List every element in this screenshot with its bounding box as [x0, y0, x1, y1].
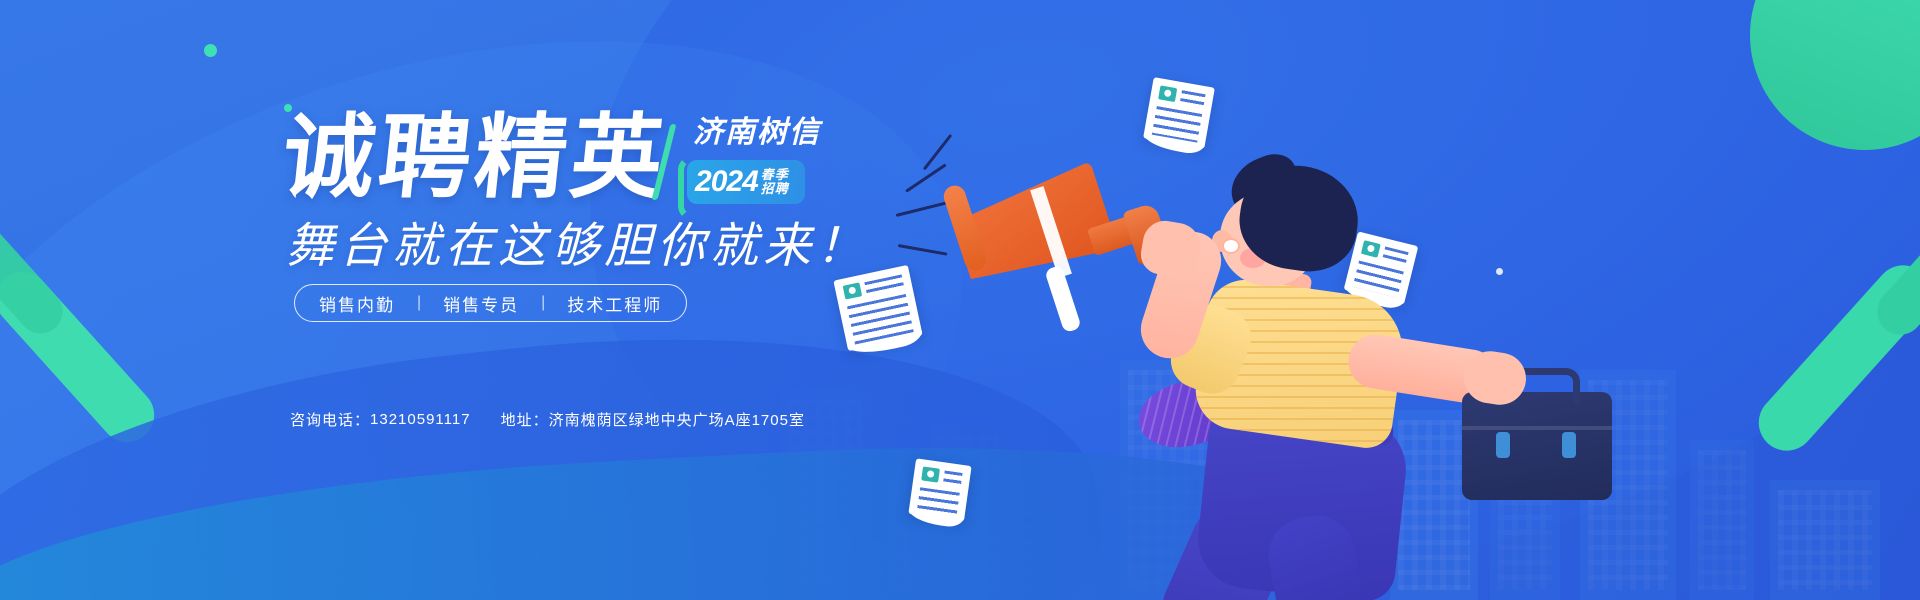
- year-badge: 2024 春季 招聘: [687, 160, 805, 204]
- tag-separator: |: [541, 294, 545, 312]
- hero-illustration: [830, 40, 1530, 560]
- mouth: [1222, 238, 1240, 254]
- season-label-group: 春季 招聘: [761, 168, 789, 195]
- season-line-1: 春季: [761, 168, 789, 182]
- contact-info: 咨询电话： 13210591117 地址： 济南槐荫区绿地中央广场A座1705室: [290, 409, 805, 430]
- resume-paper-icon: [833, 265, 922, 351]
- job-tag-sales-specialist[interactable]: 销售专员: [443, 291, 519, 316]
- phone-label: 咨询电话：: [290, 409, 370, 430]
- brand-badge-group: 济南树信 2024 春季 招聘: [683, 118, 833, 204]
- brand-name: 济南树信: [693, 118, 833, 148]
- subtitle: 舞台就在这够胆你就来！: [286, 206, 869, 276]
- building: [1690, 440, 1754, 600]
- job-tag-technical-engineer[interactable]: 技术工程师: [567, 291, 662, 316]
- building: [1770, 480, 1880, 600]
- headline-row: 诚聘精英 济南树信 2024 春季 招聘: [283, 112, 833, 204]
- tag-separator: |: [417, 294, 421, 312]
- address-label: 地址：: [501, 409, 549, 430]
- banner-content: 诚聘精英 济南树信 2024 春季 招聘 舞台就在这够胆你就来！ 销售内勤 | …: [0, 0, 900, 600]
- season-line-2: 招聘: [761, 182, 789, 196]
- recruitment-banner: 诚聘精英 济南树信 2024 春季 招聘 舞台就在这够胆你就来！ 销售内勤 | …: [0, 0, 1920, 600]
- phone-number[interactable]: 13210591117: [370, 411, 471, 428]
- address-value: 济南槐荫区绿地中央广场A座1705室: [549, 409, 805, 430]
- briefcase-icon: [1462, 392, 1612, 500]
- resume-paper-icon: [908, 458, 971, 521]
- year-number: 2024: [695, 165, 758, 199]
- job-tag-sales-assistant[interactable]: 销售内勤: [319, 291, 395, 316]
- job-tags-pill: 销售内勤 | 销售专员 | 技术工程师: [294, 284, 687, 322]
- page-title: 诚聘精英: [278, 112, 672, 204]
- businessman-character: [1080, 130, 1500, 560]
